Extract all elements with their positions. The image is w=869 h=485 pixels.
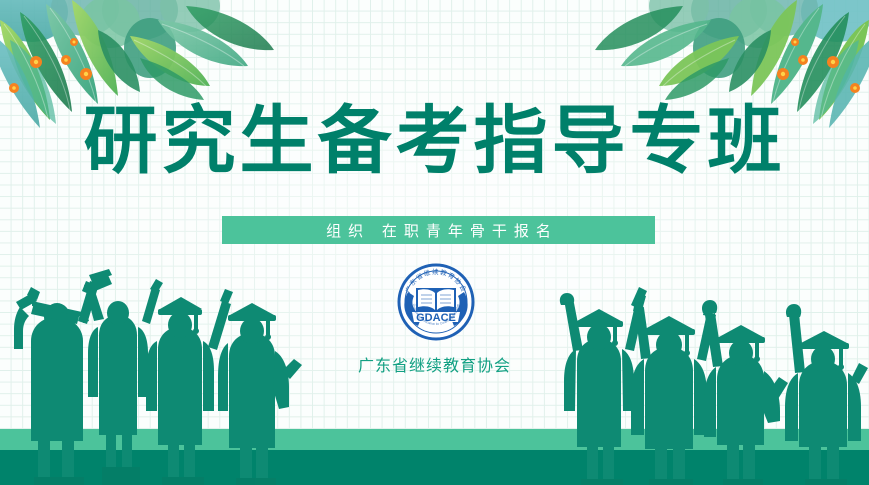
subtitle-text: 组织 在职青年骨干报名 xyxy=(319,220,558,241)
subtitle-banner: 组织 在职青年骨干报名 xyxy=(222,216,655,244)
poster-title: 研究生备考指导专班 xyxy=(0,104,869,178)
poster-canvas: 研究生备考指导专班 组织 在职青年骨干报名 GDACE 广东省继续教育 xyxy=(0,0,869,485)
organization-name: 广东省继续教育协会 xyxy=(0,352,869,376)
gdace-logo: GDACE 广东省继续教育协会 Guangdong Association fo… xyxy=(396,262,476,342)
